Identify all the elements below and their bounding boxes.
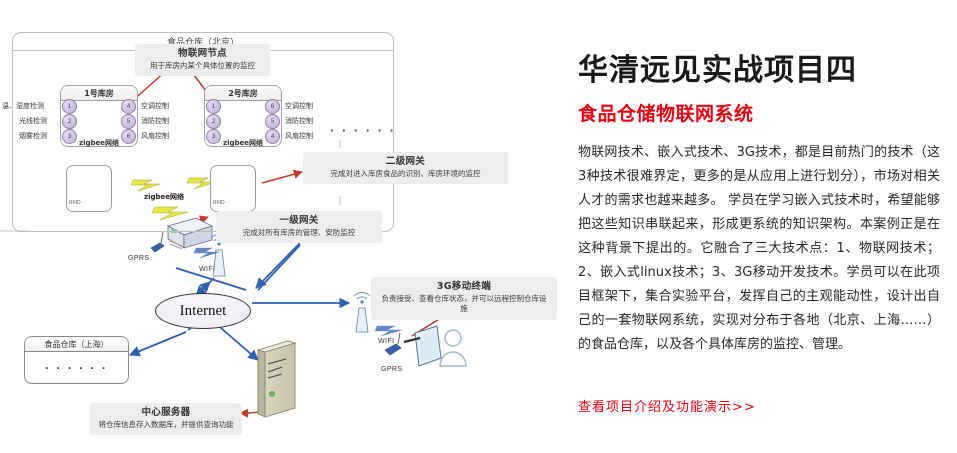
callout-center-server-title: 中心服务器 [98,407,234,419]
shanghai-warehouse-dots: · · · · · · [25,361,128,375]
wifi-antenna-2 [354,293,370,332]
room-1-rfid-label: RFID [69,200,81,206]
callout-mobile-3g-sub: 负责接受、查看仓库状态，并可以远程控制仓库设施 [379,294,549,314]
internet-cloud: Internet [155,293,251,329]
wifi-label-1: WIFI [199,266,215,273]
page-title: 华清远见实战项目四 [578,56,857,86]
article-body: 物联网技术、嵌入式技术、3G技术，都是目前热门的技术（这3种技术很难界定，更多的… [578,141,940,357]
callout-iot-node-title: 物联网节点 [143,48,262,60]
gprs-device-1 [151,232,164,252]
room-2-node-4-id: 6 [271,103,275,110]
room-2-rfid-label: RFID [213,200,225,206]
article-panel: 华清远见实战项目四 食品仓储物联网系统 物联网技术、嵌入式技术、3G技术，都是目… [578,0,957,453]
room-1-actuator-label-3: 风扇控制 [141,131,169,141]
center-server-device [258,341,295,417]
room-1-zigbee-label: zigbee网络 [60,138,138,148]
callout-mobile-3g-title: 3G移动终端 [379,281,549,293]
room-1-node-4-id: 4 [127,103,131,110]
callout-mobile-3g: 3G移动终端 负责接受、查看仓库状态，并可以远程控制仓库设施 [371,277,557,320]
room-1-sensor-label-3: 烟雾检测 [19,131,47,141]
callout-iot-node-sub: 用于库房内某个具体位置的监控 [143,61,262,71]
architecture-diagram: 食品仓库（北京） 物联网节点 用于库房内某个具体位置的监控 1号库房 1 2 3… [0,0,560,453]
zigbee-network-label: zigbee网络 [144,192,184,202]
room-1-node-5-id: 5 [127,118,131,125]
room-2-node-1: 1 [206,99,221,114]
callout-iot-node: 物联网节点 用于库房内某个具体位置的监控 [135,44,270,76]
wifi-label-2: WIFI [378,338,394,345]
more-rooms-ellipsis: · · · · · · [330,123,396,138]
room-2-node-2-id: 2 [212,118,216,125]
callout-gateway-l1: 一级网关 完成对所有库房的管理、安防监控 [216,211,382,243]
shanghai-warehouse-title: 食品仓库（上海） [25,337,128,352]
gprs-label-1: GPRS [128,255,149,262]
page-root: 食品仓库（北京） 物联网节点 用于库房内某个具体位置的监控 1号库房 1 2 3… [0,0,957,453]
callout-center-server-sub: 将仓库信息存入数据库，并提供查询功能 [98,420,234,430]
callout-gateway-l2-sub: 完成对进入库房食品的识别、库房环境的监控 [311,169,500,179]
room-2-actuator-label-3: 风扇控制 [285,131,313,141]
room-2-node-1-id: 1 [212,103,216,110]
room-2-actuator-label-1: 空调控制 [285,101,313,111]
room-1-node-1: 1 [62,99,77,114]
callout-gateway-l1-sub: 完成对所有库房的管理、安防监控 [224,228,374,238]
room-1-actuator-label-2: 消防控制 [141,116,169,126]
room-1-node-4: 4 [121,99,136,114]
callout-gateway-l1-title: 一级网关 [224,215,374,227]
room-2-node-5-id: 5 [271,118,275,125]
user-avatar [440,330,466,366]
room-2-node-5: 5 [265,114,280,129]
room-1-actuator-label-1: 空调控制 [141,101,169,111]
room-2-actuator-label-2: 消防控制 [285,116,313,126]
room-2-node-2: 2 [206,114,221,129]
gprs-label-2: GPRS [381,366,402,373]
tablet-device [404,326,441,366]
room-1-node-1-id: 1 [68,103,72,110]
room-1-node-2-id: 2 [68,118,72,125]
callout-gateway-l2-title: 二级网关 [311,156,500,168]
room-2-zigbee-label: zigbee网络 [204,138,282,148]
shanghai-warehouse-box: 食品仓库（上海） · · · · · · [24,336,129,384]
room-1-sensor-label-2: 光线检测 [19,116,47,126]
callout-gateway-l2: 二级网关 完成对进入库房食品的识别、库房环境的监控 [303,152,508,184]
room-2-node-4: 6 [265,99,280,114]
room-1-node-2: 2 [62,114,77,129]
view-project-demo-link[interactable]: 查看项目介绍及功能演示>> [578,396,756,415]
callout-center-server: 中心服务器 将仓库信息存入数据库，并提供查询功能 [90,403,242,435]
room-1-sensor-label-1: 温、湿度检测 [2,101,44,111]
internet-label: Internet [180,303,227,320]
room-1-node-5: 5 [121,114,136,129]
page-subtitle: 食品仓储物联网系统 [578,105,754,124]
